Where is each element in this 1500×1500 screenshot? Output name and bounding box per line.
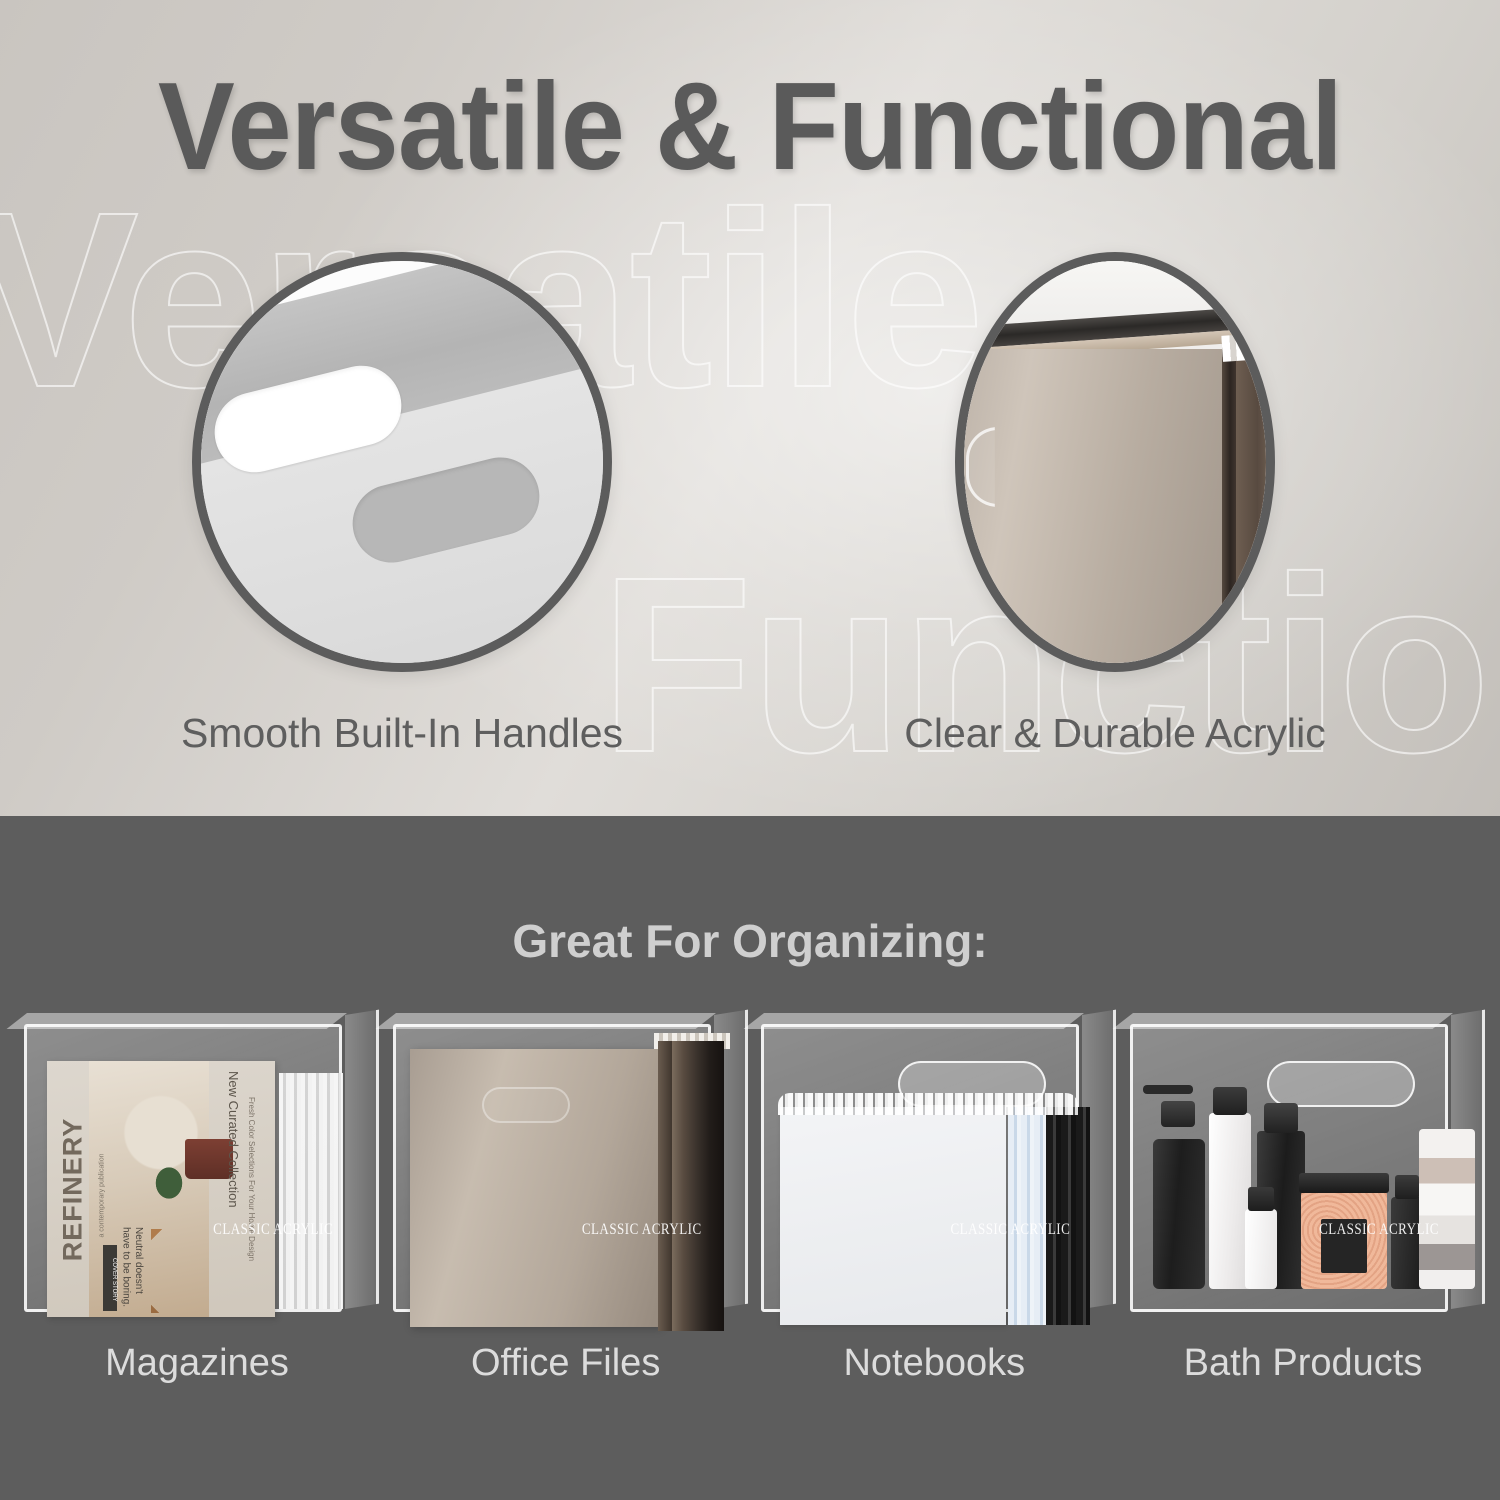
bin-top-rim	[7, 1013, 347, 1029]
uses-panel: Great For Organizing:	[0, 816, 1500, 1500]
magazine-right-column: New Curated Collection Fresh Color Selec…	[207, 1071, 271, 1307]
folder-handle-cutout	[482, 1087, 570, 1123]
acrylic-bin-body: REFINERY a contemporary publication COVE…	[24, 1024, 342, 1312]
page-title: Versatile & Functional	[53, 62, 1448, 192]
use-case-label-office-files: Office Files	[387, 1342, 745, 1385]
feature-clear-durable-acrylic: Clear & Durable Acrylic	[955, 252, 1275, 672]
acrylic-bin-body: CLASSIC ACRYLIC	[393, 1024, 711, 1312]
acrylic-bin-body: CLASSIC ACRYLIC	[761, 1024, 1079, 1312]
acrylic-bin-body: CLASSIC ACRYLIC	[1130, 1024, 1448, 1312]
notebook-stack-black	[1046, 1107, 1090, 1325]
magazine-subhead: Fresh Color Selections For Your Home Des…	[245, 1097, 257, 1317]
notebook-cover	[780, 1107, 1006, 1325]
magazine-cover-story: COVER STORY Neutral doesn't have to be b…	[103, 1227, 155, 1311]
use-case-label-notebooks: Notebooks	[755, 1342, 1113, 1385]
bin-side-panel	[345, 1010, 379, 1309]
handle-scene	[192, 252, 612, 672]
cover-story-lines: Neutral doesn't have to be boring.	[119, 1227, 144, 1311]
brand-mark: CLASSIC ACRYLIC	[213, 1219, 333, 1239]
bin-bath-products: CLASSIC ACRYLIC	[1124, 1006, 1482, 1324]
photo-plant	[147, 1157, 191, 1209]
acrylic-scene	[964, 261, 1266, 663]
brand-mark: CLASSIC ACRYLIC	[950, 1219, 1070, 1239]
bin-magazines: REFINERY a contemporary publication COVE…	[18, 1006, 376, 1324]
uses-grid: REFINERY a contemporary publication COVE…	[0, 1006, 1500, 1426]
bin-handle-cutout	[1267, 1061, 1415, 1107]
bin-office-files: CLASSIC ACRYLIC	[387, 1006, 745, 1324]
use-case-label-bath-products: Bath Products	[1124, 1342, 1482, 1385]
magazine-title-text: REFINERY	[58, 1117, 89, 1261]
file-folder-accordion	[1236, 345, 1275, 672]
use-case-office-files: CLASSIC ACRYLIC Office Files	[387, 1006, 745, 1426]
file-folder-front	[955, 349, 1224, 672]
feature-caption-acrylic: Clear & Durable Acrylic	[904, 710, 1326, 757]
magazine-stack	[279, 1073, 343, 1309]
magazine-sub-text: a contemporary publication	[99, 1153, 106, 1237]
magazine-headline: New Curated Collection	[226, 1071, 241, 1307]
white-bottle-small	[1245, 1209, 1277, 1289]
infographic-page: Versatile Function Versatile & Functiona…	[0, 0, 1500, 1500]
cover-story-tag: COVER STORY	[103, 1245, 117, 1311]
magazine-masthead: REFINERY	[53, 1061, 93, 1317]
handle-closeup-image	[192, 252, 612, 672]
magazine-cover: REFINERY a contemporary publication COVE…	[47, 1061, 275, 1317]
feature-smooth-built-in-handles: Smooth Built-In Handles	[192, 252, 612, 672]
feature-caption-handles: Smooth Built-In Handles	[181, 710, 623, 757]
uses-section-title: Great For Organizing:	[0, 914, 1500, 968]
bath-salts-jar	[1301, 1191, 1387, 1289]
bin-top-rim	[375, 1013, 715, 1029]
acrylic-closeup-image	[955, 252, 1275, 672]
bin-top-rim	[1112, 1013, 1452, 1029]
bin-notebooks: CLASSIC ACRYLIC	[755, 1006, 1113, 1324]
notebook-spiral-binding	[778, 1093, 1078, 1115]
folder-accordion-pleats	[672, 1041, 724, 1331]
file-folder-body	[410, 1049, 660, 1327]
notebook-stack-blue	[1008, 1107, 1046, 1325]
black-pump-bottle	[1153, 1139, 1205, 1289]
bin-top-rim	[744, 1013, 1084, 1029]
use-case-label-magazines: Magazines	[18, 1342, 376, 1385]
brand-mark: CLASSIC ACRYLIC	[582, 1219, 702, 1239]
use-case-bath-products: CLASSIC ACRYLIC Bath Products	[1124, 1006, 1482, 1426]
use-case-notebooks: CLASSIC ACRYLIC Notebooks	[755, 1006, 1113, 1426]
use-case-magazines: REFINERY a contemporary publication COVE…	[18, 1006, 376, 1426]
brand-mark: CLASSIC ACRYLIC	[1319, 1219, 1439, 1239]
features-panel: Versatile Function Versatile & Functiona…	[0, 0, 1500, 816]
stacked-jars	[1419, 1129, 1475, 1289]
